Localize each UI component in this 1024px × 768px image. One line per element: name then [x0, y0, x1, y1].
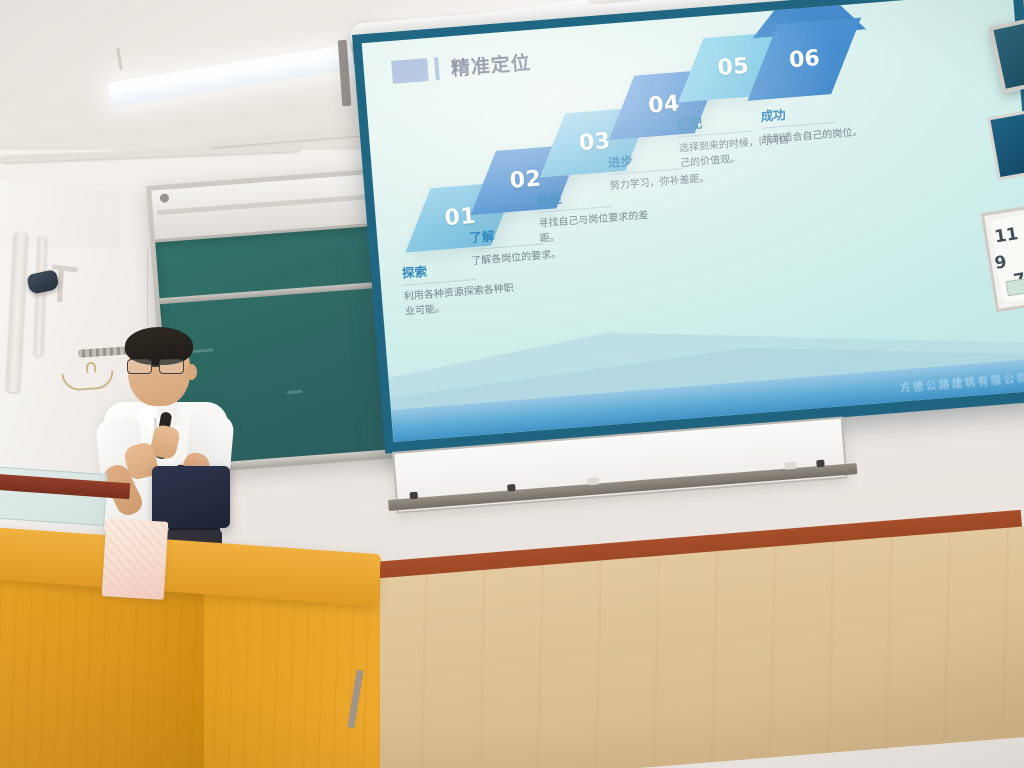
- step-heading-02: 了解: [469, 221, 545, 250]
- eyeglass-lens-right: [159, 359, 184, 374]
- wood-grain: [0, 567, 208, 768]
- lectern: [0, 527, 390, 768]
- step-body-06: 找到适合自己的岗位。: [762, 125, 875, 148]
- tray-knob: [816, 460, 825, 468]
- step-heading-01: 探索: [401, 257, 477, 286]
- tray-knob: [507, 484, 516, 492]
- eyeglass-lens-left: [127, 359, 152, 374]
- bag: [152, 466, 230, 528]
- step-body-03: 寻找自己与岗位要求的差距。: [538, 209, 652, 247]
- step-body-04: 努力学习，弥补差距。: [609, 171, 722, 194]
- step-heading-06: 成功: [760, 100, 836, 129]
- draped-towel: [102, 518, 169, 600]
- step-item-06: 06: [750, 0, 872, 112]
- presentation-slide: 精准定位 01 探索 利用各种资源探索各种职业可能。: [362, 0, 1024, 442]
- step-number-05: 05: [717, 53, 751, 80]
- presenter-ear: [186, 364, 197, 380]
- tray-knob: [409, 492, 418, 500]
- step-label-06: 成功 找到适合自己的岗位。: [760, 97, 875, 148]
- step-body-02: 了解各岗位的要求。: [471, 246, 584, 269]
- step-heading-05: 匹配: [676, 109, 752, 138]
- presenter-eyeglasses-icon: [127, 359, 187, 374]
- projection-screen: 精准定位 01 探索 利用各种资源探索各种职业可能。: [352, 0, 1024, 464]
- clock-numeral-11: 11: [993, 224, 1020, 247]
- chalkboard-clip: [160, 193, 170, 203]
- lectern-front-panel: [0, 567, 208, 768]
- clock-face: 11 12 9 7 6 5.9: [990, 209, 1024, 303]
- whiteboard-marker: [587, 477, 600, 485]
- step-heading-04: 进步: [607, 146, 683, 175]
- clock-numeral-9: 9: [993, 252, 1008, 274]
- step-body-01: 利用各种资源探索各种职业可能。: [403, 282, 517, 320]
- whiteboard-marker: [784, 462, 797, 470]
- step-number-06: 06: [788, 46, 821, 73]
- screen-frame: 精准定位 01 探索 利用各种资源探索各种职业可能。: [352, 0, 1024, 454]
- step-heading-03: 差距: [536, 184, 612, 213]
- classroom-scene: 精准定位 01 探索 利用各种资源探索各种职业可能。: [0, 0, 1024, 768]
- step-shape-06-arrow: 06: [750, 0, 872, 112]
